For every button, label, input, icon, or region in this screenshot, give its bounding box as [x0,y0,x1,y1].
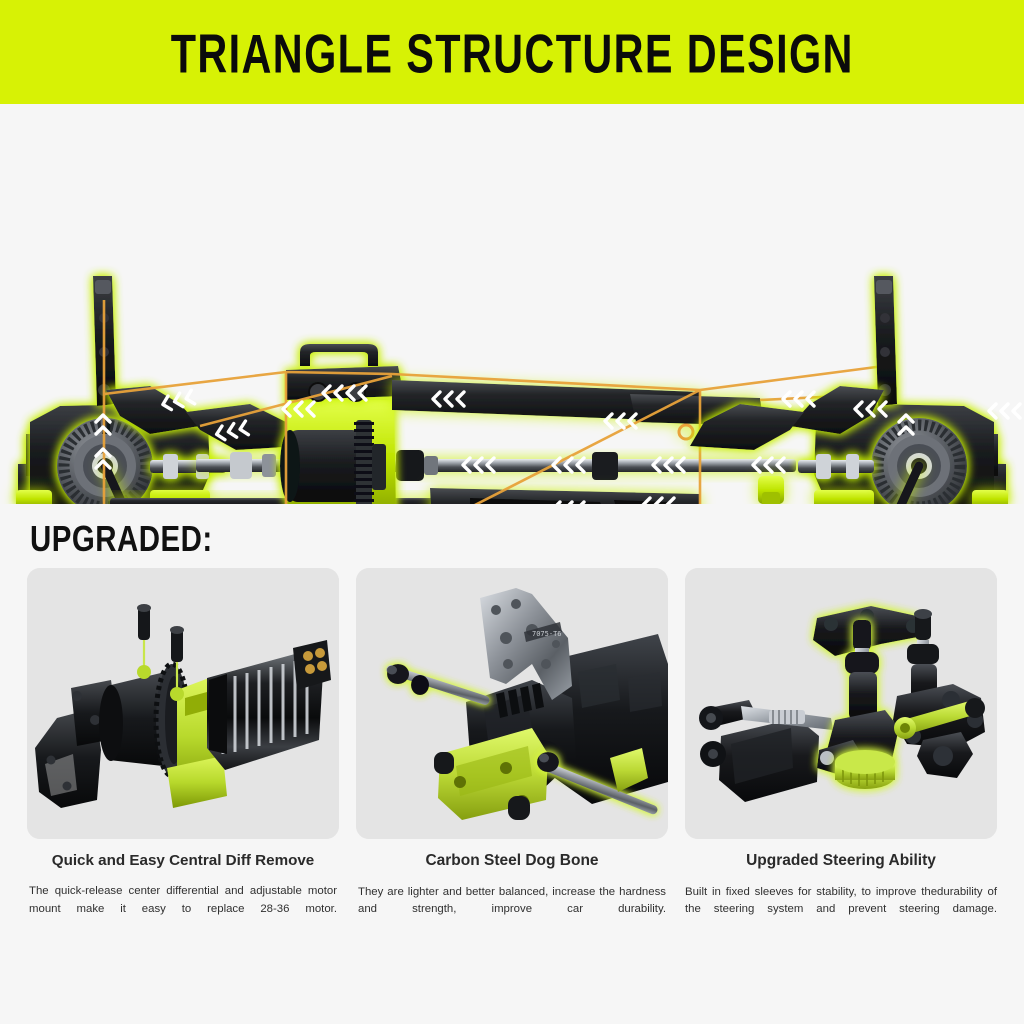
svg-text:7075-T6: 7075-T6 [532,630,562,638]
caption-body: The quick-release center differential an… [27,883,339,918]
page-title: TRIANGLE STRUCTURE DESIGN [170,26,853,81]
header-banner: TRIANGLE STRUCTURE DESIGN [0,0,1024,104]
caption-dog-bone: Carbon Steel Dog Bone They are lighter a… [356,852,668,919]
caption-title: Quick and Easy Central Diff Remove [27,852,339,870]
hero-illustration [0,104,1024,504]
upgrade-cards-row: 7075-T6 [0,568,1024,840]
card-steering-image[interactable] [685,568,997,839]
card-central-diff-image[interactable] [27,568,339,839]
caption-steering: Upgraded Steering Ability Built in fixed… [685,852,997,919]
upgraded-heading: UPGRADED: [30,520,213,557]
caption-body: They are lighter and better balanced, in… [356,884,668,919]
card-dog-bone-image[interactable]: 7075-T6 [356,568,668,839]
caption-title: Upgraded Steering Ability [685,852,997,871]
caption-body: Built in fixed sleeves for stability, to… [685,884,997,919]
center-differential-assembly [280,344,404,504]
caption-central-diff: Quick and Easy Central Diff Remove The q… [27,852,339,919]
caption-title: Carbon Steel Dog Bone [356,852,668,871]
